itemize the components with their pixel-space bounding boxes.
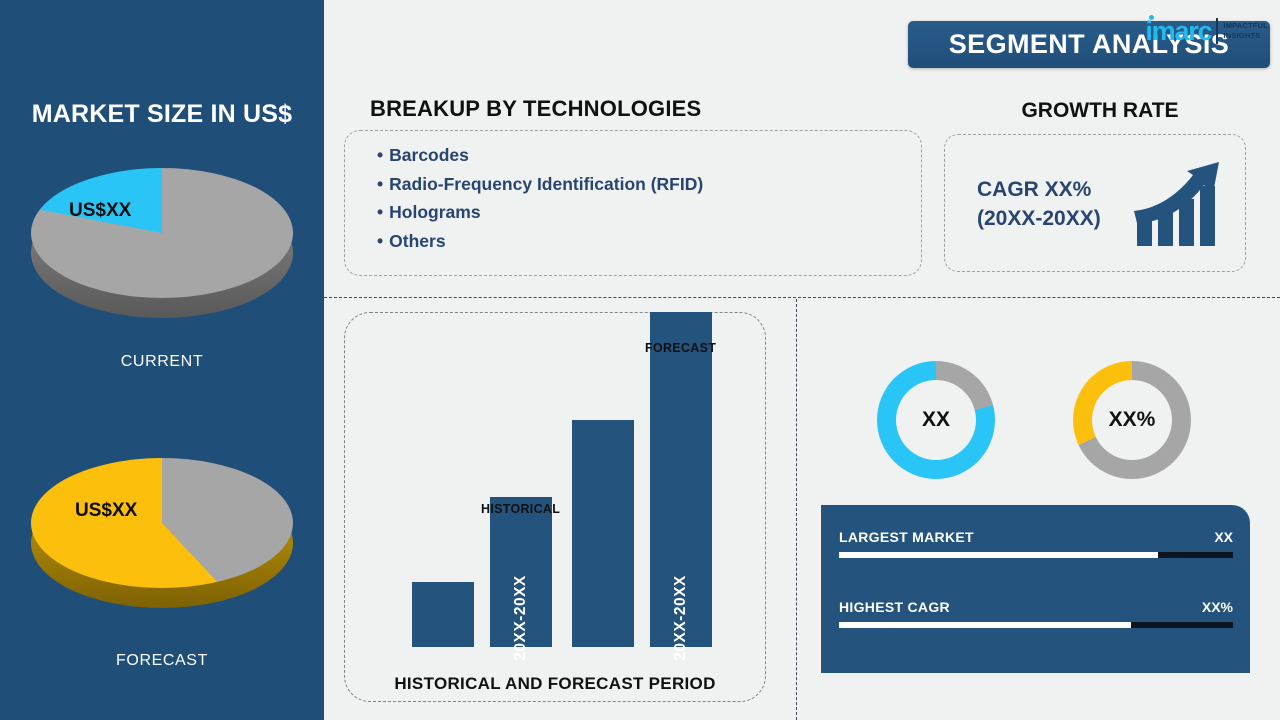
highest-cagr-label: HIGHEST CAGR (839, 599, 950, 615)
largest-market-donut: XX (877, 361, 995, 479)
bullet-icon: • (377, 202, 383, 222)
market-size-sidebar: MARKET SIZE IN US$ US$XX CURRENT US$XX F… (0, 0, 324, 720)
logo-tagline-line2: INSIGHTS (1223, 31, 1268, 41)
vertical-divider (796, 299, 797, 720)
bar-4: 20XX-20XX (650, 312, 712, 647)
bar-3 (572, 420, 634, 647)
bar-2-range-label: 20XX-20XX (512, 575, 530, 661)
current-pie-chart (31, 168, 293, 298)
forecast-caption: FORECAST (645, 341, 716, 355)
forecast-pie-block: US$XX FORECAST (0, 440, 324, 615)
technologies-box: •Barcodes•Radio-Frequency Identification… (344, 130, 922, 276)
bullet-icon: • (377, 231, 383, 251)
bar-1 (412, 582, 474, 647)
highest-cagr-donut-hole: XX% (1092, 380, 1172, 460)
largest-market-value: XX (1214, 529, 1233, 545)
horizontal-divider (324, 297, 1280, 298)
growth-rate-heading: GROWTH RATE (940, 99, 1260, 123)
highest-cagr-value: XX% (1202, 599, 1233, 615)
growth-rate-box: CAGR XX% (20XX-20XX) (944, 134, 1246, 272)
cagr-line-1: CAGR XX% (977, 175, 1101, 204)
technology-item-label: Holograms (389, 202, 480, 222)
metric-row-highest-cagr: XX% HIGHEST CAGR (839, 599, 1233, 628)
bar-4-range-label: 20XX-20XX (672, 575, 690, 661)
highest-cagr-donut: XX% (1073, 361, 1191, 479)
imarc-logo: imarc IMPACTFUL INSIGHTS (1145, 14, 1268, 48)
technology-item-label: Barcodes (389, 145, 469, 165)
largest-market-fill (839, 552, 1158, 558)
largest-market-donut-value: XX (922, 408, 950, 432)
technology-item: •Radio-Frequency Identification (RFID) (377, 170, 921, 199)
metric-row-largest-market: XX LARGEST MARKET (839, 529, 1233, 558)
logo-tagline: IMPACTFUL INSIGHTS (1223, 21, 1268, 41)
bullet-icon: • (377, 145, 383, 165)
logo-dot-icon (1149, 15, 1154, 20)
bar-2: 20XX-20XX (490, 497, 552, 647)
current-pie-value: US$XX (69, 200, 131, 222)
infographic-canvas: MARKET SIZE IN US$ US$XX CURRENT US$XX F… (0, 0, 1280, 720)
largest-market-label: LARGEST MARKET (839, 529, 974, 545)
logo-word-text: imarc (1145, 16, 1211, 46)
technology-item-label: Others (389, 231, 445, 251)
historical-caption: HISTORICAL (481, 502, 560, 516)
forecast-pie-chart (31, 458, 293, 588)
logo-divider (1216, 18, 1218, 44)
current-pie-caption: CURRENT (0, 353, 324, 371)
technology-item: •Barcodes (377, 141, 921, 170)
technologies-list: •Barcodes•Radio-Frequency Identification… (345, 131, 921, 255)
growth-arrow-chart-icon (1131, 153, 1231, 253)
logo-wordmark: imarc (1145, 18, 1211, 45)
highest-cagr-fill (839, 622, 1131, 628)
forecast-pie-caption: FORECAST (0, 652, 324, 670)
largest-market-donut-hole: XX (896, 380, 976, 460)
technology-item: •Holograms (377, 198, 921, 227)
technology-item-label: Radio-Frequency Identification (RFID) (389, 174, 703, 194)
bar-chart-stage: 20XX-20XX HISTORICAL 20XX-20XX FORECAST (344, 312, 766, 702)
bar-chart-axis-label: HISTORICAL AND FORECAST PERIOD (344, 674, 766, 694)
cagr-text: CAGR XX% (20XX-20XX) (977, 175, 1101, 233)
cagr-line-2: (20XX-20XX) (977, 204, 1101, 233)
logo-tagline-line1: IMPACTFUL (1223, 21, 1268, 31)
sidebar-title: MARKET SIZE IN US$ (0, 100, 324, 129)
technologies-heading: BREAKUP BY TECHNOLOGIES (370, 96, 701, 122)
technology-item: •Others (377, 227, 921, 256)
highest-cagr-donut-value: XX% (1109, 408, 1156, 432)
largest-market-track (839, 552, 1233, 558)
forecast-pie-value: US$XX (75, 500, 137, 522)
bullet-icon: • (377, 174, 383, 194)
key-metrics-panel: XX LARGEST MARKET XX% HIGHEST CAGR (821, 505, 1250, 673)
highest-cagr-track (839, 622, 1233, 628)
current-pie-block: US$XX CURRENT (0, 150, 324, 325)
